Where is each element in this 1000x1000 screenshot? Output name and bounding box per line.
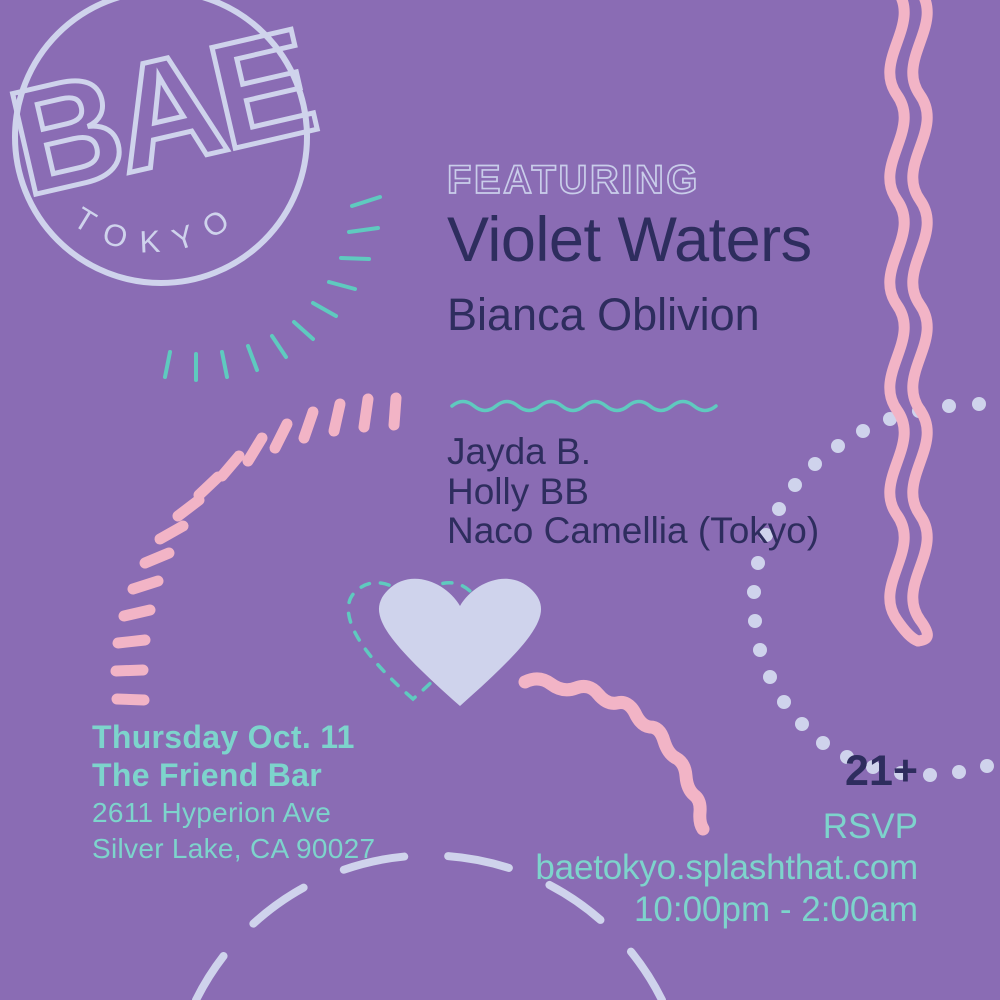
featuring-label: FEATURING: [447, 160, 967, 200]
event-flyer: BAE TOKYO FEATURING Violet Waters Bianca…: [0, 0, 1000, 1000]
list-item: Jayda B.: [447, 432, 819, 472]
headliner-name: Violet Waters: [447, 206, 967, 274]
teal-wave-divider: [452, 402, 716, 411]
pink-dashed-arc: [116, 398, 396, 700]
rsvp-label: RSVP: [358, 807, 918, 847]
featuring-block: FEATURING Violet Waters Bianca Oblivion: [447, 160, 967, 340]
list-item: Holly BB: [447, 472, 819, 512]
age-restriction-badge: 21+: [358, 750, 918, 793]
co-headliner-name: Bianca Oblivion: [447, 290, 967, 340]
rsvp-url-link[interactable]: baetokyo.splashthat.com: [358, 847, 918, 889]
solid-heart: [379, 579, 541, 706]
event-hours: 10:00pm - 2:00am: [358, 889, 918, 931]
rsvp-block: 21+ RSVP baetokyo.splashthat.com 10:00pm…: [358, 750, 918, 931]
dashed-heart-outline: [348, 583, 477, 699]
list-item: Naco Camellia (Tokyo): [447, 511, 819, 551]
support-artist-list: Jayda B. Holly BB Naco Camellia (Tokyo): [447, 432, 819, 551]
logo-badge[interactable]: BAE TOKYO: [6, 0, 326, 312]
